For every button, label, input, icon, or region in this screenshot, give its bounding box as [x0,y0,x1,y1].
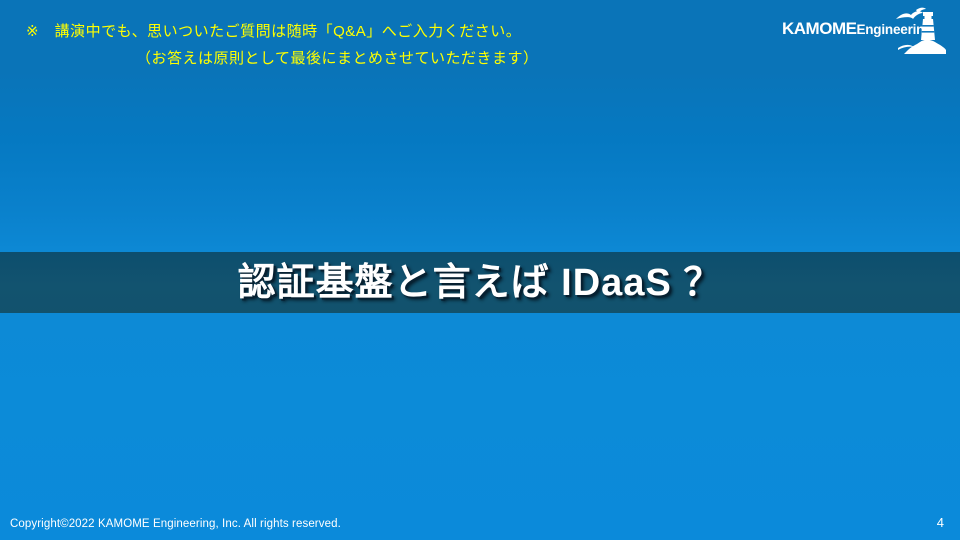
company-logo: KAMOMEEngineering [782,6,952,54]
slide-canvas: ※ 講演中でも、思いついたご質問は随時「Q&A」へご入力ください。 （お答えは原… [0,0,960,540]
company-logo-brand: KAMOME [782,19,856,38]
notice-line-1: ※ 講演中でも、思いついたご質問は随時「Q&A」へご入力ください。 [0,18,720,45]
lighthouse-seagull-logo-icon [890,6,946,54]
page-title: 認証基盤と言えば IDaaS ？ [0,253,960,313]
notice-line-2: （お答えは原則として最後にまとめさせていただきます） [0,45,720,72]
notice-block: ※ 講演中でも、思いついたご質問は随時「Q&A」へご入力ください。 （お答えは原… [0,18,720,72]
footer-copyright: Copyright©2022 KAMOME Engineering, Inc. … [10,518,341,530]
page-number: 4 [937,516,944,530]
